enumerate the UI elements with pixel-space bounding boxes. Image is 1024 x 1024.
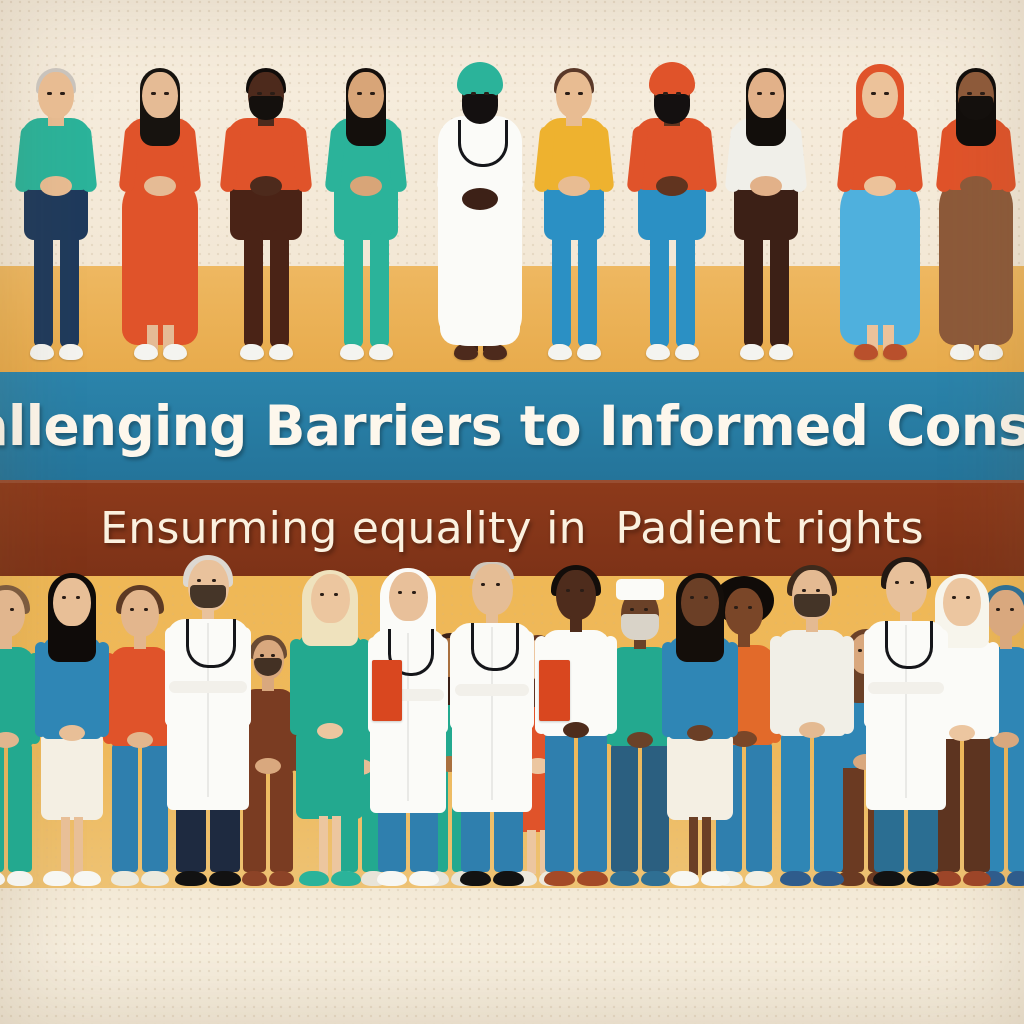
seated-figure-woman-black-hair-white-shirt <box>718 70 814 372</box>
leg-l <box>244 230 263 348</box>
seated-figure-young-person-yellow-shirt-blue-trousers <box>528 70 620 372</box>
shoe-right <box>331 871 361 886</box>
leg-r <box>370 230 389 348</box>
seated-figure-man-dark-skin-orange-shirt <box>212 70 320 372</box>
clipboard-icon <box>372 660 402 721</box>
leg-l <box>344 230 363 348</box>
leg-r <box>578 230 597 348</box>
leg-r <box>770 230 789 348</box>
beard <box>794 594 829 617</box>
shoe-left <box>670 871 699 886</box>
shoe-right <box>979 344 1003 360</box>
page-title: Challenging Barriers to Informed Consent <box>15 372 1008 480</box>
folded-hands <box>750 176 782 196</box>
leg-l <box>61 817 70 875</box>
shoe-right <box>1007 871 1024 886</box>
eye-right <box>578 92 583 95</box>
face <box>314 577 347 619</box>
shoe-left <box>740 344 764 360</box>
shoe-left <box>0 871 5 886</box>
eye-right <box>144 608 148 611</box>
standing-figure-senior-doctor-white-hair-beard-coat-stethoscope <box>154 558 262 888</box>
leg-l <box>744 230 763 348</box>
leg-l <box>552 230 571 348</box>
seated-figure-older-person-grey-hair-teal-shirt <box>8 70 104 372</box>
skirt <box>840 170 920 345</box>
eye-right <box>370 92 375 95</box>
shoe-right <box>269 344 293 360</box>
eye-left <box>757 92 762 95</box>
eye-left <box>565 92 570 95</box>
standing-figure-doctor-bald-white-coat-green-tie <box>440 562 544 888</box>
shoe-right <box>963 871 991 886</box>
leg-right <box>1008 742 1024 872</box>
eye-right <box>1010 608 1014 611</box>
shoe-right <box>409 871 439 886</box>
eye-left <box>398 591 402 594</box>
eye-left <box>130 608 134 611</box>
shoe-left <box>544 871 575 886</box>
skirt <box>667 735 732 820</box>
head <box>472 564 513 615</box>
skirt <box>939 170 1013 345</box>
shoe-left <box>30 344 54 360</box>
eye-left <box>566 589 570 592</box>
leg-r <box>270 230 289 348</box>
skirt <box>296 733 364 819</box>
face <box>887 565 925 610</box>
face <box>557 76 591 118</box>
leg-r <box>74 817 83 875</box>
eye-right <box>676 92 681 95</box>
face <box>143 76 177 118</box>
leg-right <box>814 732 843 872</box>
folded-hands <box>864 176 896 196</box>
shoe-right <box>577 344 601 360</box>
torso <box>778 630 847 736</box>
leg-left <box>0 742 4 872</box>
shoe-right <box>493 871 524 886</box>
shoe-right <box>483 344 507 360</box>
arm-right <box>97 642 109 737</box>
leg-l <box>689 817 698 875</box>
arm-right <box>726 642 738 737</box>
shoe-left <box>780 871 811 886</box>
eye-right <box>816 589 820 592</box>
standing-figure-woman-dark-skin-blue-top-white-skirt <box>652 576 748 888</box>
eye-right <box>770 92 775 95</box>
torso <box>297 633 363 737</box>
folded-hands <box>144 176 176 196</box>
beard <box>249 96 283 120</box>
shoe-left <box>340 344 364 360</box>
leg-r <box>60 230 79 348</box>
shoe-right <box>813 871 844 886</box>
face <box>558 573 595 617</box>
shoe-right <box>675 344 699 360</box>
crossed-arms <box>868 682 944 694</box>
leg-l <box>650 230 669 348</box>
arm-left <box>770 636 784 734</box>
shoe-right <box>701 871 730 886</box>
eye-left <box>257 92 262 95</box>
eye-left <box>871 92 876 95</box>
poster-canvas: Challenging Barriers to Informed Consent… <box>0 0 1024 1024</box>
shoe-left <box>43 871 71 886</box>
standing-figure-man-white-tshirt-blue-jeans-sneakers <box>760 568 864 888</box>
crossed-arms <box>169 681 247 693</box>
folded-hands <box>558 176 590 196</box>
eye-right <box>580 589 584 592</box>
shoe-left <box>873 871 905 886</box>
bottom-row-standing-people <box>0 576 1024 1024</box>
leg-right <box>578 732 607 872</box>
eye-left <box>471 92 476 95</box>
eye-right <box>484 92 489 95</box>
eye-right <box>884 92 889 95</box>
hands <box>563 722 589 738</box>
eye-left <box>320 593 324 596</box>
face <box>39 76 73 118</box>
arm-right <box>840 636 854 734</box>
eye-left <box>802 589 806 592</box>
hands <box>317 723 343 739</box>
shoe-right <box>907 871 939 886</box>
shoe-left <box>548 344 572 360</box>
eye-left <box>967 92 972 95</box>
leg-left <box>545 732 574 872</box>
shoe-left <box>460 871 491 886</box>
hands <box>799 722 825 738</box>
seated-figure-man-orange-turban-beard-red-shirt <box>620 70 724 372</box>
eye-right <box>76 596 80 599</box>
shoe-left <box>454 344 478 360</box>
standing-figure-nurse-dark-hair-blue-top-white-skirt <box>26 576 118 888</box>
hands <box>127 732 153 748</box>
seated-figure-woman-orange-hijab-blue-dress <box>830 70 930 372</box>
skirt <box>122 170 199 345</box>
standing-figure-doctor-dark-hair-white-coat-stethoscope <box>853 560 959 888</box>
eye-left <box>47 92 52 95</box>
skirt <box>41 735 104 820</box>
arm-left <box>35 642 47 737</box>
eye-right <box>748 606 752 609</box>
shoe-left <box>854 344 878 360</box>
arm-right <box>604 636 617 734</box>
eye-right <box>966 596 970 599</box>
eye-right <box>704 596 708 599</box>
shoe-left <box>134 344 158 360</box>
folded-hands <box>250 176 282 196</box>
eye-right <box>164 92 169 95</box>
shoe-right <box>209 871 241 886</box>
stethoscope <box>458 120 508 167</box>
face <box>683 581 718 623</box>
stethoscope-icon <box>471 623 519 671</box>
arm-left <box>290 639 303 735</box>
beard <box>190 585 226 608</box>
shoe-left <box>299 871 329 886</box>
hands <box>627 732 653 748</box>
shoe-left <box>377 871 407 886</box>
eye-right <box>334 593 338 596</box>
folded-hands <box>462 188 498 210</box>
eye-left <box>663 92 668 95</box>
stethoscope-icon <box>885 621 933 669</box>
eye-left <box>151 92 156 95</box>
folded-hands <box>656 176 688 196</box>
eye-left <box>357 92 362 95</box>
eye-right <box>60 92 65 95</box>
folded-hands <box>350 176 382 196</box>
shoe-right <box>769 344 793 360</box>
arm-right <box>987 642 999 737</box>
folded-hands <box>40 176 72 196</box>
face <box>55 581 90 623</box>
shoe-right <box>883 344 907 360</box>
eye-right <box>644 608 648 611</box>
eye-right <box>412 591 416 594</box>
seated-figure-woman-long-black-hair-red-dress <box>112 70 208 372</box>
face <box>865 76 895 116</box>
shoe-left <box>175 871 207 886</box>
leg-right <box>964 735 990 872</box>
shoe-right <box>163 344 187 360</box>
shoe-right <box>369 344 393 360</box>
shoe-left <box>950 344 974 360</box>
stethoscope-icon <box>186 619 235 668</box>
hands <box>59 725 85 741</box>
leg-l <box>319 816 328 874</box>
eye-right <box>10 608 14 611</box>
leg-left <box>781 732 810 872</box>
eye-right <box>980 92 985 95</box>
folded-hands <box>960 176 992 196</box>
shoe-right <box>73 871 101 886</box>
leg-r <box>332 816 341 874</box>
arm-left <box>662 642 674 737</box>
shoe-left <box>646 344 670 360</box>
eye-left <box>630 608 634 611</box>
face <box>349 76 383 118</box>
top-row-seated-people <box>0 0 1024 372</box>
shoe-right <box>577 871 608 886</box>
face <box>749 76 783 118</box>
seated-figure-woman-dark-skin-orange-dress <box>930 70 1022 372</box>
eye-right <box>270 92 275 95</box>
leg-l <box>34 230 53 348</box>
leg-r <box>676 230 695 348</box>
seated-figure-woman-teal-scrubs <box>318 70 414 372</box>
hands <box>687 725 713 741</box>
face <box>123 593 158 634</box>
face <box>392 575 425 617</box>
seated-figure-doctor-teal-turban-white-coat-stethoscope <box>430 70 530 372</box>
crossed-arms <box>455 684 530 696</box>
leg-r <box>702 817 711 875</box>
shoe-left <box>240 344 264 360</box>
shoe-right <box>59 344 83 360</box>
